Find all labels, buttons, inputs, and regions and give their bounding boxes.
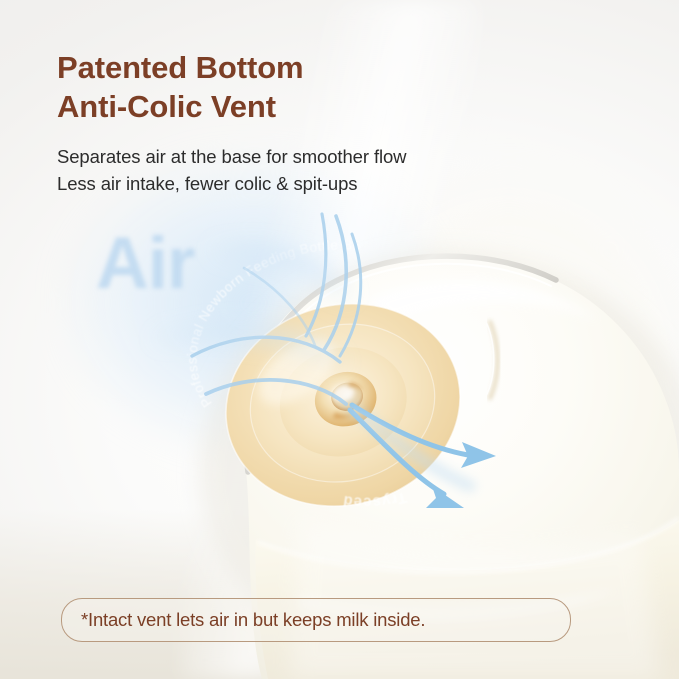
subheadline-line-1: Separates air at the base for smoother f…: [57, 143, 617, 170]
subheadline-line-2: Less air intake, fewer colic & spit-ups: [57, 170, 617, 197]
footnote-text: *Intact vent lets air in but keeps milk …: [62, 609, 425, 631]
headline-block: Patented Bottom Anti-Colic Vent Separate…: [57, 48, 617, 197]
subheadline-block: Separates air at the base for smoother f…: [57, 143, 617, 197]
page-title: Patented Bottom Anti-Colic Vent: [57, 48, 617, 126]
footnote-pill: *Intact vent lets air in but keeps milk …: [61, 598, 571, 642]
product-feature-poster: Patented Bottom Anti-Colic Vent Separate…: [0, 0, 679, 679]
